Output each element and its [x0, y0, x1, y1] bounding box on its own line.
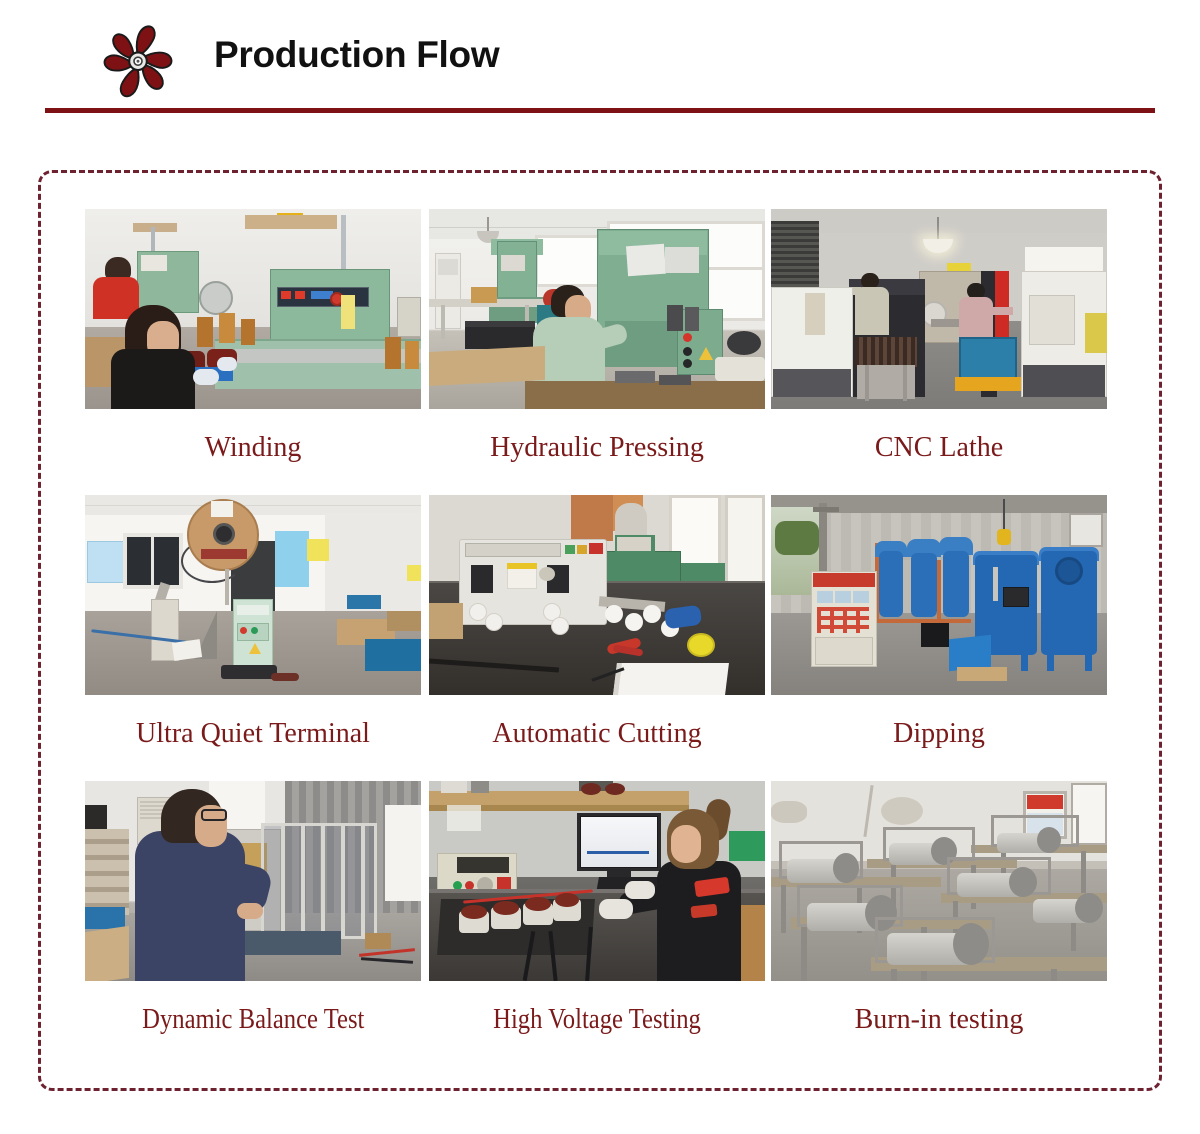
page-header: Production Flow — [0, 0, 1200, 118]
step-card-burn-in-testing[interactable]: Burn-in testing — [771, 781, 1107, 1037]
steps-row-2: Ultra Quiet Terminal — [85, 495, 1113, 781]
step-caption-text: High Voltage Testing — [493, 1003, 701, 1037]
step-card-ultra-quiet-terminal[interactable]: Ultra Quiet Terminal — [85, 495, 421, 751]
step-caption: Winding — [85, 431, 421, 465]
fan-impeller-icon — [97, 22, 179, 102]
step-caption: Dipping — [771, 717, 1107, 751]
step-caption: High Voltage Testing — [429, 1003, 765, 1037]
step-photo-burn-in-testing[interactable] — [771, 781, 1107, 981]
step-photo-high-voltage-testing[interactable] — [429, 781, 765, 981]
step-photo-dipping[interactable] — [771, 495, 1107, 695]
step-card-cnc-lathe[interactable]: CNC Lathe — [771, 209, 1107, 465]
header-divider — [45, 108, 1155, 113]
step-card-dipping[interactable]: Dipping — [771, 495, 1107, 751]
steps-row-3: Dynamic Balance Test — [85, 781, 1113, 1067]
step-caption: Automatic Cutting — [429, 717, 765, 751]
step-photo-ultra-quiet-terminal[interactable] — [85, 495, 421, 695]
step-photo-cnc-lathe[interactable] — [771, 209, 1107, 409]
step-card-high-voltage-testing[interactable]: High Voltage Testing — [429, 781, 765, 1037]
step-card-winding[interactable]: Winding — [85, 209, 421, 465]
step-photo-automatic-cutting[interactable] — [429, 495, 765, 695]
step-caption: Ultra Quiet Terminal — [85, 717, 421, 751]
step-photo-winding[interactable] — [85, 209, 421, 409]
step-photo-hydraulic-pressing[interactable] — [429, 209, 765, 409]
step-caption: Hydraulic Pressing — [429, 431, 765, 465]
step-card-dynamic-balance-test[interactable]: Dynamic Balance Test — [85, 781, 421, 1037]
page-title: Production Flow — [214, 31, 499, 79]
step-caption: CNC Lathe — [771, 431, 1107, 465]
step-photo-dynamic-balance-test[interactable] — [85, 781, 421, 981]
production-flow-panel: Winding — [38, 170, 1162, 1091]
step-caption: Burn-in testing — [771, 1003, 1107, 1037]
step-caption: Dynamic Balance Test — [85, 1003, 421, 1037]
steps-row-1: Winding — [85, 209, 1113, 495]
step-caption-text: Dynamic Balance Test — [142, 1003, 364, 1037]
step-card-hydraulic-pressing[interactable]: Hydraulic Pressing — [429, 209, 765, 465]
step-card-automatic-cutting[interactable]: Automatic Cutting — [429, 495, 765, 751]
production-steps-grid: Winding — [85, 209, 1113, 1067]
